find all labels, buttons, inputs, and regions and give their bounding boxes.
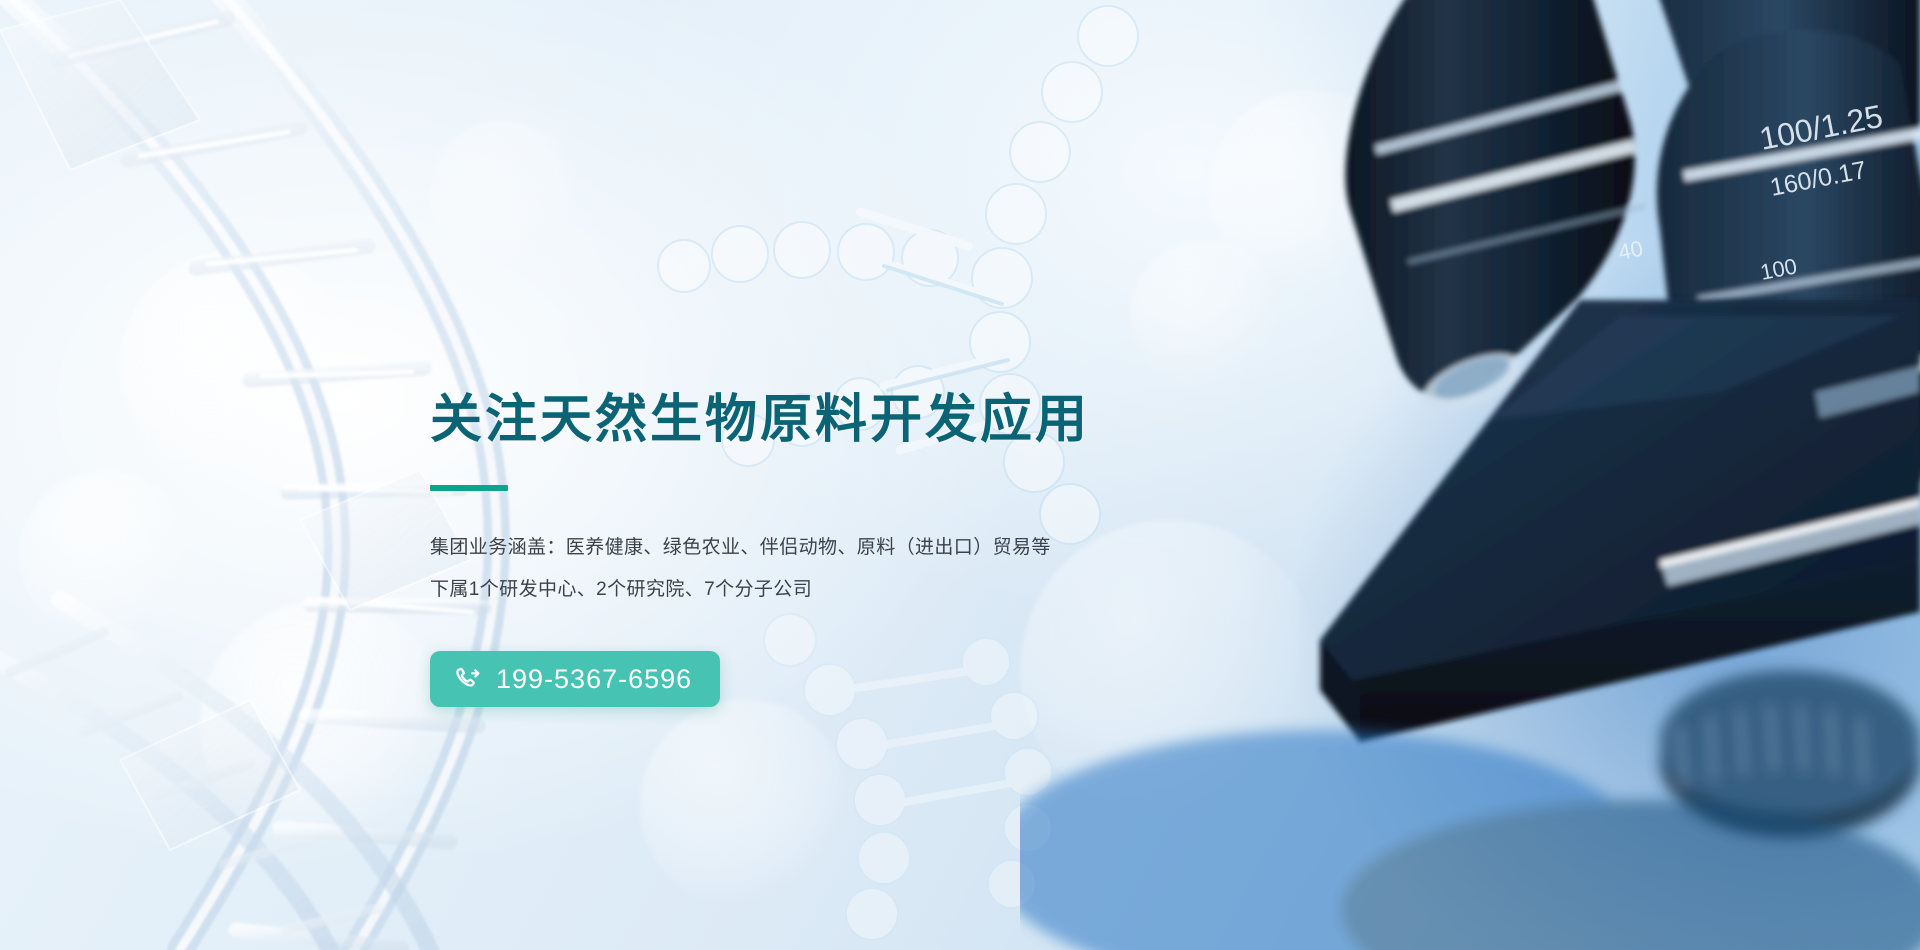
bokeh-light <box>430 120 580 270</box>
phone-number-label: 199-5367-6596 <box>496 664 692 695</box>
bokeh-light <box>120 250 350 480</box>
description-line-2: 下属1个研发中心、2个研究院、7个分子公司 <box>430 569 1330 611</box>
accent-divider <box>430 485 508 491</box>
bokeh-light <box>20 470 190 640</box>
phone-forward-icon <box>454 665 482 693</box>
bokeh-light <box>200 600 450 850</box>
description-line-1: 集团业务涵盖：医养健康、绿色农业、伴侣动物、原料（进出口）贸易等 <box>430 527 1330 569</box>
page-title: 关注天然生物原料开发应用 <box>430 392 1330 449</box>
svg-text:40: 40 <box>1616 236 1645 265</box>
bokeh-light <box>640 700 850 910</box>
hero-description: 集团业务涵盖：医养健康、绿色农业、伴侣动物、原料（进出口）贸易等 下属1个研发中… <box>430 527 1330 611</box>
call-phone-button[interactable]: 199-5367-6596 <box>430 651 720 707</box>
hero-content: 关注天然生物原料开发应用 集团业务涵盖：医养健康、绿色农业、伴侣动物、原料（进出… <box>430 392 1330 707</box>
hero-banner: 100/1.25 160/0.17 40 100 <box>0 0 1920 950</box>
